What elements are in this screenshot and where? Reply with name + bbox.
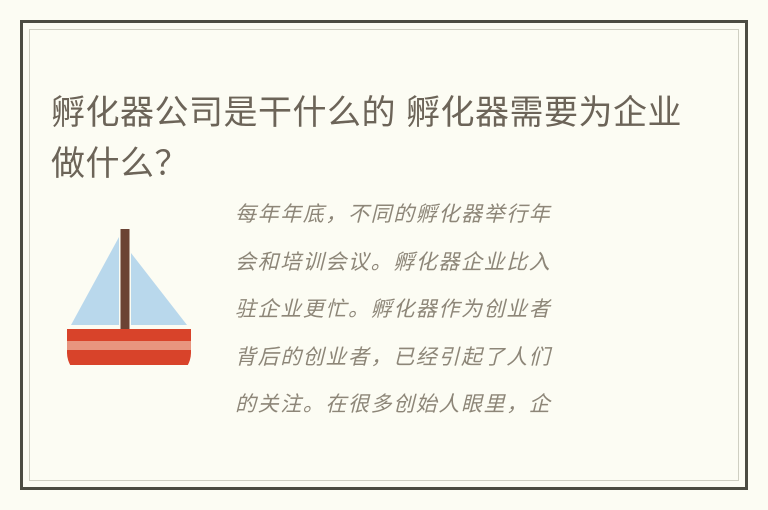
sailboat-illustration bbox=[23, 191, 235, 365]
sailboat-icon bbox=[63, 225, 195, 365]
content-row: 每年年底，不同的孵化器举行年 会和培训会议。孵化器企业比入 驻企业更忙。孵化器作… bbox=[23, 191, 739, 481]
body-line: 每年年底，不同的孵化器举行年 bbox=[235, 191, 725, 239]
body-line: 会和培训会议。孵化器企业比入 bbox=[235, 239, 725, 287]
body-line: 的关注。在很多创始人眼里，企 bbox=[235, 381, 725, 429]
body-line: 背后的创业者，已经引起了人们 bbox=[235, 334, 725, 382]
body-line: 驻企业更忙。孵化器作为创业者 bbox=[235, 286, 725, 334]
article-card: 孵化器公司是干什么的 孵化器需要为企业做什么？ 每年年底，不同的孵化器举行年 bbox=[20, 20, 748, 490]
page-title: 孵化器公司是干什么的 孵化器需要为企业做什么？ bbox=[51, 88, 691, 190]
article-body: 每年年底，不同的孵化器举行年 会和培训会议。孵化器企业比入 驻企业更忙。孵化器作… bbox=[235, 191, 739, 429]
